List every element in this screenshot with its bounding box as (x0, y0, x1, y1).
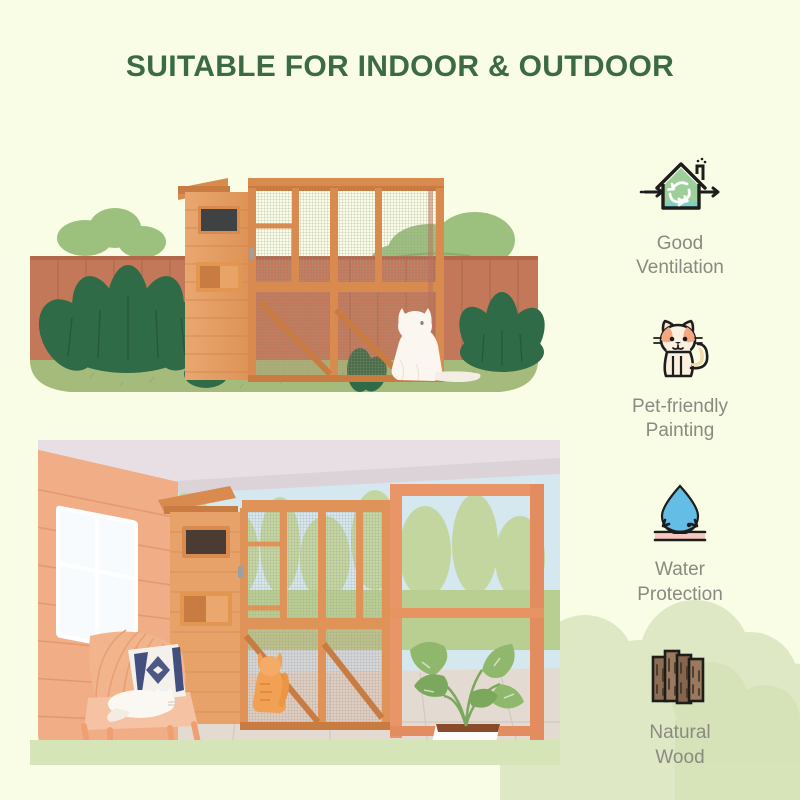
ventilation-house-icon (639, 150, 721, 224)
feature-label: Water Protection (637, 558, 723, 607)
features-list: Good Ventilation Pet-friendl (560, 150, 800, 770)
feature-natural-wood[interactable]: Natural Wood (580, 639, 780, 770)
outdoor-garden-scene (30, 130, 560, 415)
cat-icon (643, 313, 717, 387)
door-latch (249, 248, 254, 259)
feature-pet-friendly-painting[interactable]: Pet-friendly Painting (580, 313, 780, 444)
feature-water-protection[interactable]: Water Protection (580, 476, 780, 607)
feature-label: Natural Wood (649, 721, 710, 770)
indoor-patio-scene (30, 440, 560, 765)
feature-label: Good Ventilation (636, 232, 724, 281)
page-title: SUITABLE FOR INDOOR & OUTDOOR (0, 50, 800, 84)
water-droplet-icon (641, 476, 719, 550)
feature-label: Pet-friendly Painting (632, 395, 728, 444)
feature-good-ventilation[interactable]: Good Ventilation (580, 150, 780, 281)
background-bush-light (57, 208, 166, 258)
wood-planks-icon (643, 639, 717, 713)
